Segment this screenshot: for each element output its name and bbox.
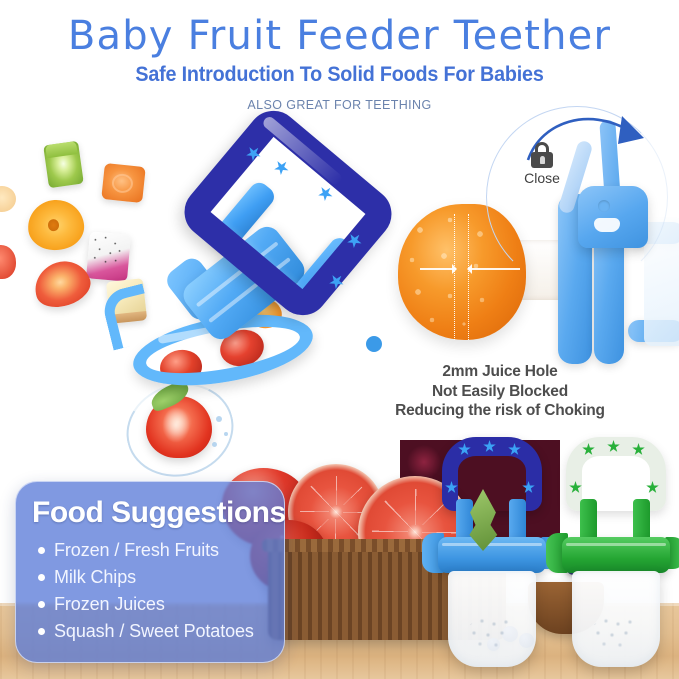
water-drop-icon [216, 416, 222, 422]
food-suggestions-panel: Food Suggestions Frozen / Fresh Fruits M… [15, 481, 285, 663]
list-item: Squash / Sweet Potatoes [32, 618, 268, 645]
measure-guide-line [468, 214, 469, 340]
food-piece-edge [0, 245, 16, 279]
juice-hole-line-2: Not Easily Blocked [355, 382, 645, 402]
carrot-cube-icon [101, 163, 146, 203]
feeder-collar [438, 537, 546, 573]
feeder-silicone-sac [572, 571, 660, 667]
food-suggestions-title: Food Suggestions [32, 495, 268, 531]
list-item: Frozen Juices [32, 591, 268, 618]
padlock-icon [531, 142, 553, 168]
feeder-collar [562, 537, 670, 573]
measure-guide-line [454, 214, 455, 340]
close-callout: Close [513, 142, 571, 190]
feeder-clip-nub [366, 336, 382, 352]
food-piece-edge [0, 186, 16, 212]
bullet-icon [38, 628, 45, 635]
juice-hole-callout: 2mm Juice Hole Not Easily Blocked Reduci… [355, 362, 645, 421]
list-item: Milk Chips [32, 564, 268, 591]
bullet-icon [38, 574, 45, 581]
peach-half-icon [26, 198, 85, 252]
green-feeder-product [556, 437, 676, 669]
bullet-icon [38, 547, 45, 554]
measure-arrow-icon [420, 268, 456, 270]
infographic-canvas: Baby Fruit Feeder Teether Safe Introduct… [0, 0, 679, 679]
list-item: Frozen / Fresh Fruits [32, 537, 268, 564]
blue-feeder-exploded [150, 138, 380, 378]
feeder-silicone-sac [448, 571, 536, 667]
list-item-label: Squash / Sweet Potatoes [54, 618, 254, 645]
juice-hole-line-3: Reducing the risk of Choking [355, 401, 645, 421]
bullet-icon [38, 601, 45, 608]
list-item-label: Milk Chips [54, 564, 136, 591]
strawberry-half-icon [29, 254, 96, 313]
header: Baby Fruit Feeder Teether Safe Introduct… [0, 0, 679, 122]
page-tagline: ALSO GREAT FOR TEETHING [0, 97, 679, 113]
close-label: Close [513, 170, 571, 186]
kiwi-cube-icon [43, 141, 84, 188]
juice-hole-line-1: 2mm Juice Hole [355, 362, 645, 382]
blue-feeder-product [432, 437, 552, 669]
page-subtitle: Safe Introduction To Solid Foods For Bab… [20, 62, 658, 88]
dragonfruit-cube-icon [86, 231, 131, 281]
page-title: Baby Fruit Feeder Teether [0, 12, 679, 60]
measure-arrow-icon [468, 268, 520, 270]
list-item-label: Frozen / Fresh Fruits [54, 537, 219, 564]
list-item-label: Frozen Juices [54, 591, 165, 618]
food-suggestions-list: Frozen / Fresh Fruits Milk Chips Frozen … [32, 537, 268, 645]
